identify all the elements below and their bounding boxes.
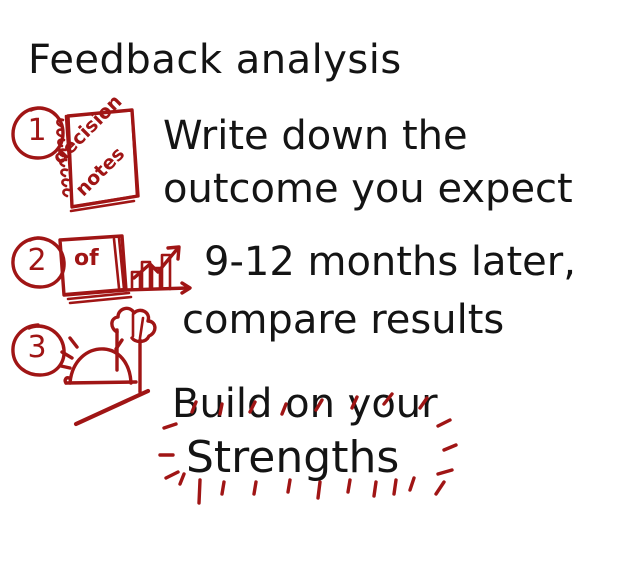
item-3-text-line-2: Strengths xyxy=(186,432,399,484)
whiteboard-sketchnote: Feedback analysis 1 2 3 decision notes o… xyxy=(0,0,640,562)
document-stack-label: of xyxy=(74,246,99,271)
item-2-text-line-2: compare results xyxy=(182,294,504,346)
item-2-text-line-1: 9-12 months later, xyxy=(204,236,576,288)
item-number-2: 2 xyxy=(14,243,60,278)
page-title: Feedback analysis xyxy=(28,38,402,82)
item-number-1: 1 xyxy=(14,113,60,148)
sunrise-plant-growth-icon xyxy=(61,308,155,424)
bar-chart-growth-icon xyxy=(126,247,190,293)
item-3-text-line-1: Build on your xyxy=(172,378,438,430)
item-1-text-line-2: outcome you expect xyxy=(163,163,573,215)
item-1-text-line-1: Write down the xyxy=(163,110,468,162)
item-number-3: 3 xyxy=(14,330,60,365)
